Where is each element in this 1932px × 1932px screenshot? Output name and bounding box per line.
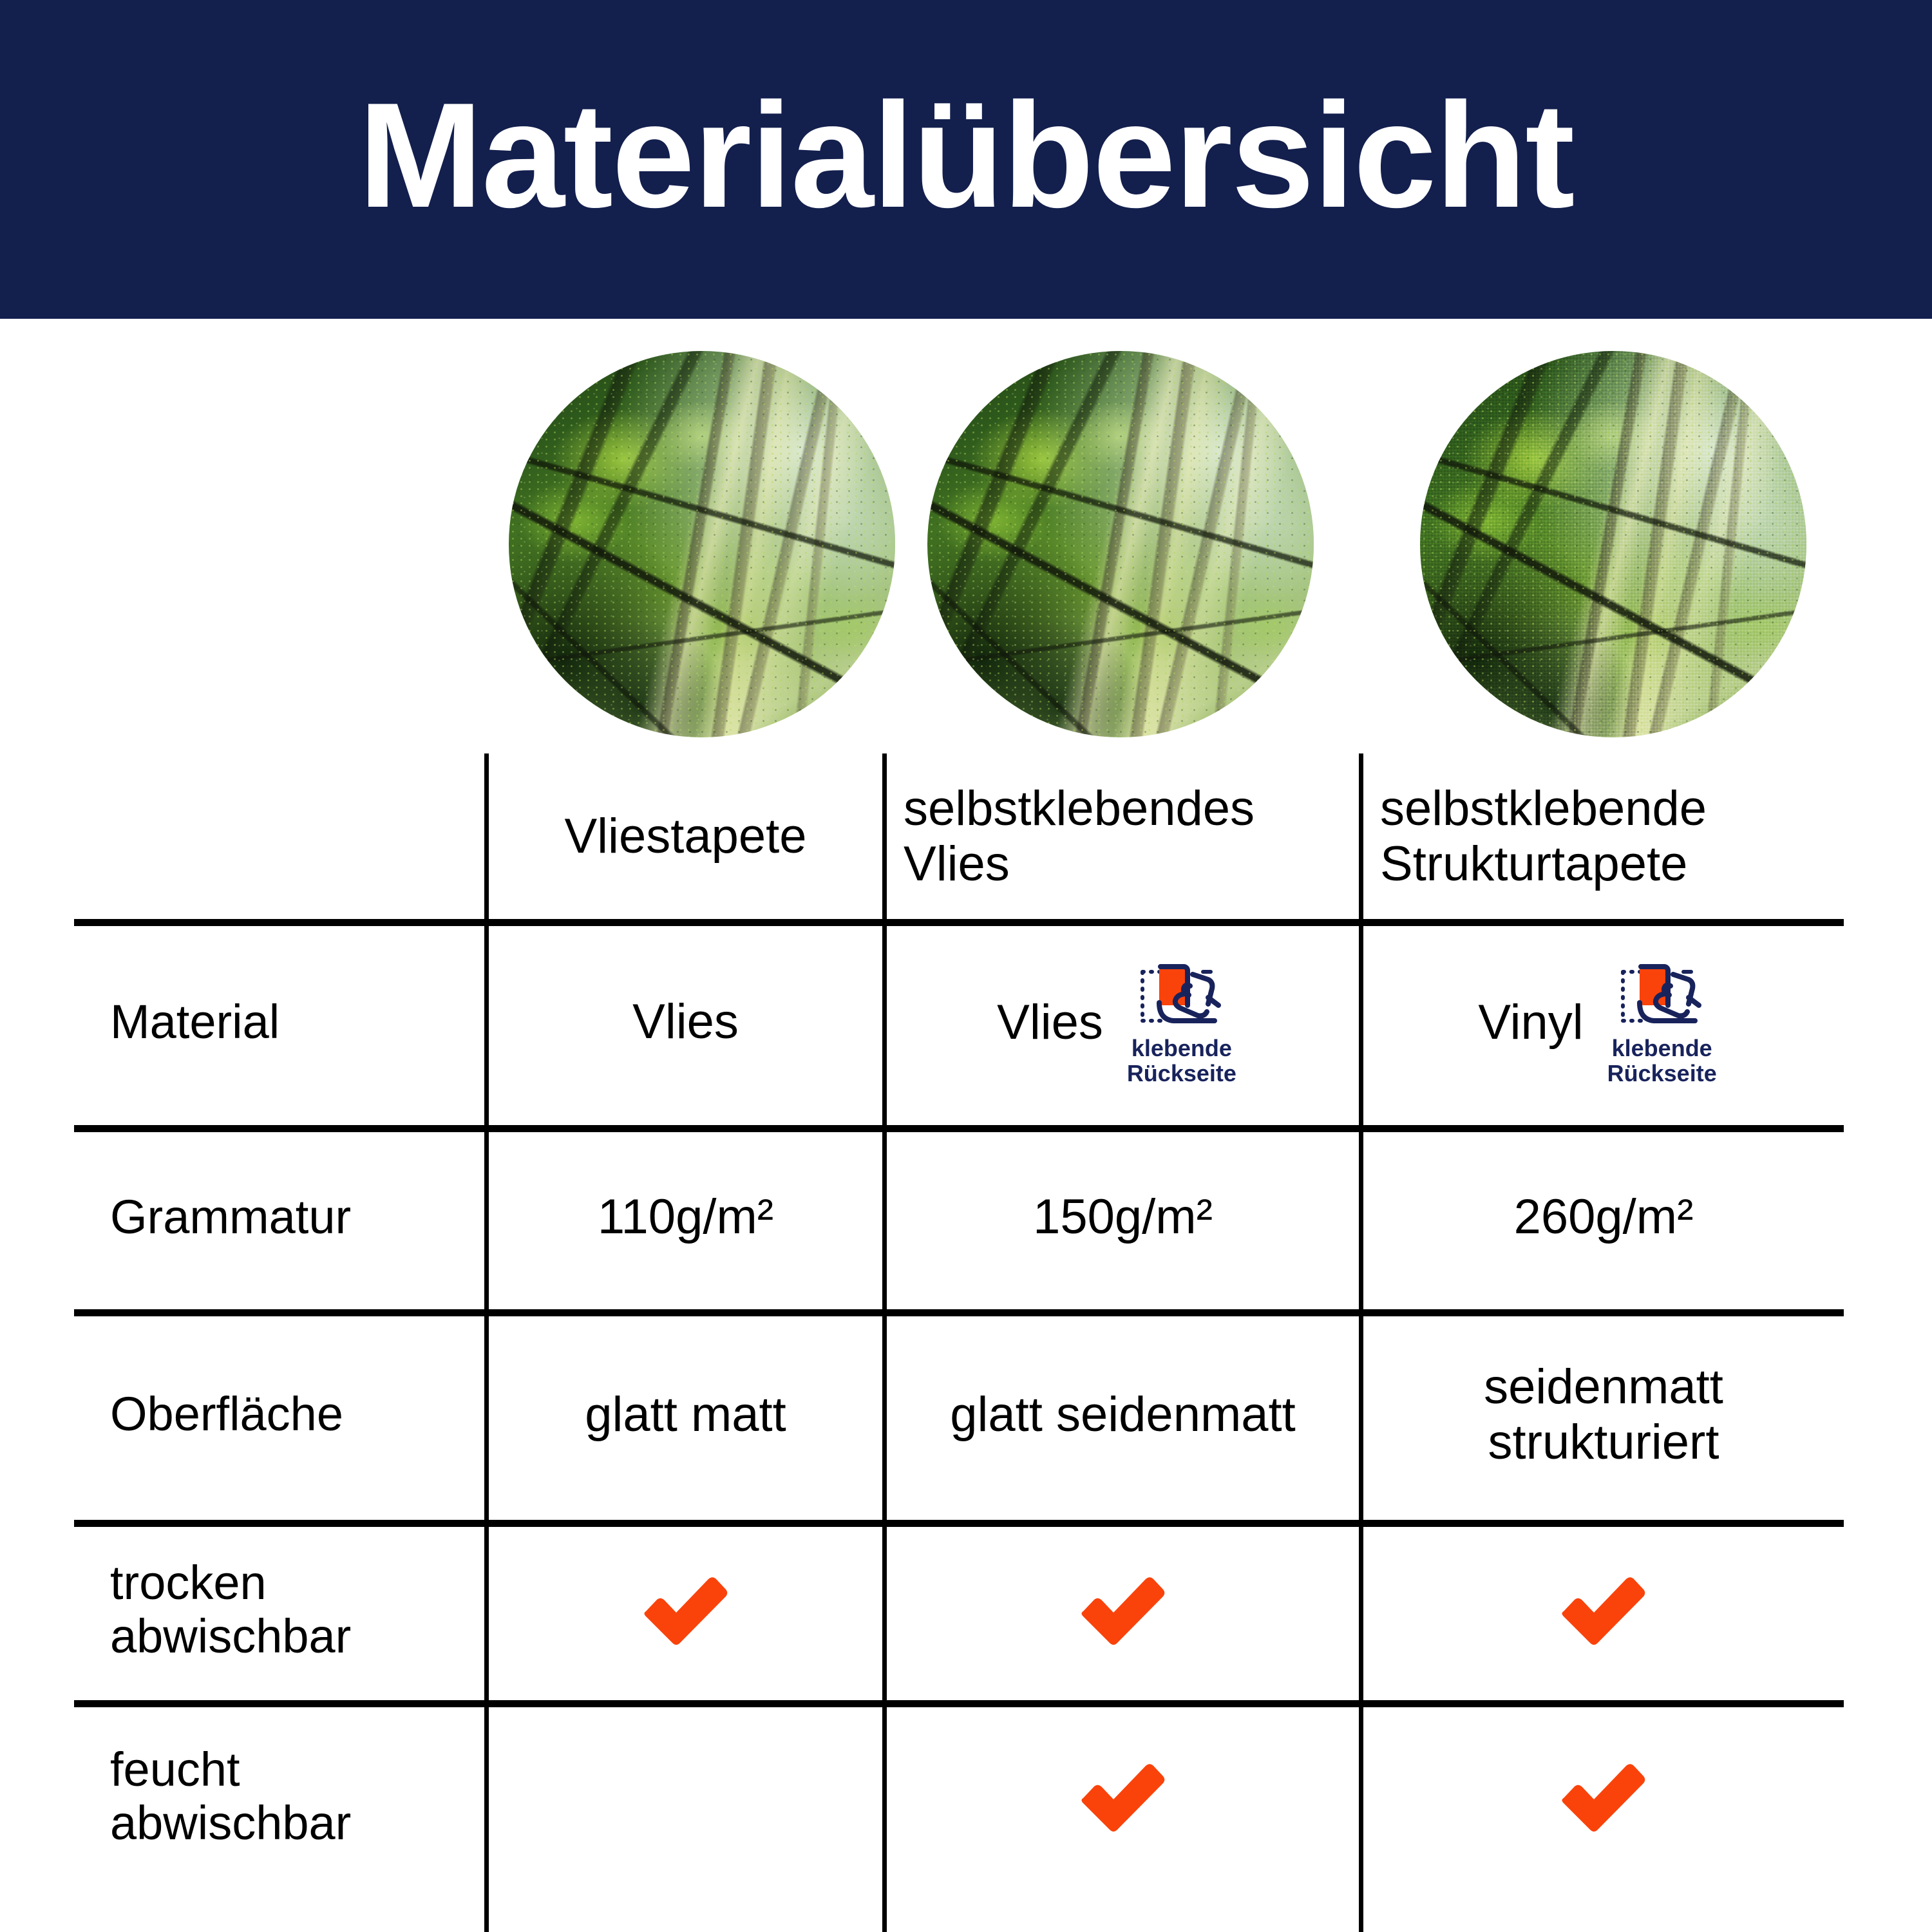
row-label-feucht-abwischbar: feucht abwischbar [74,1700,484,1893]
column-header-vliestapete: Vliestapete [489,753,882,919]
adhesive-backing-icon [1614,958,1710,1034]
column-header-selbstklebende-strukturtapete: selbstklebende Strukturtapete [1363,753,1844,919]
forest-foliage-speckle-1 [509,351,895,737]
cell-feucht-selbstklebendes-vlies [887,1700,1359,1893]
cell-feucht-vliestapete [489,1700,882,1893]
adhesive-badge-caption: klebendeRückseite [1607,1036,1717,1086]
cell-feucht-selbstklebende-strukturtapete [1363,1700,1844,1893]
row-label-material: Material [74,919,484,1125]
row-label-trocken-abwischbar: trocken abwischbar [74,1520,484,1700]
cell-grammatur-selbstklebendes-vlies: 150g/m² [887,1125,1359,1309]
row-label-oberflaeche: Oberfläche [74,1309,484,1520]
adhesive-backing-icon [1133,958,1230,1034]
adhesive-badge-caption: klebendeRückseite [1127,1036,1236,1086]
cell-oberflaeche-selbstklebende-strukturtapete: seidenmatt strukturiert [1363,1309,1844,1520]
cell-material-value: Vinyl [1478,994,1583,1050]
checkmark-icon [1075,1758,1171,1835]
adhesive-backing-badge-1: klebendeRückseite [1115,958,1249,1086]
row-label-grammatur: Grammatur [74,1125,484,1309]
swatch-selbstklebendes-vlies[interactable] [927,351,1314,737]
cell-oberflaeche-selbstklebendes-vlies: glatt seidenmatt [887,1309,1359,1520]
adhesive-backing-badge-2: klebendeRückseite [1595,958,1729,1086]
checkmark-icon [638,1571,734,1649]
checkmark-icon [1555,1758,1652,1835]
cell-grammatur-vliestapete: 110g/m² [489,1125,882,1309]
forest-foliage-speckle-2 [927,351,1314,737]
column-divider-3 [1359,753,1363,1932]
cell-oberflaeche-vliestapete: glatt matt [489,1309,882,1520]
swatch-vliestapete[interactable] [509,351,895,737]
cell-trocken-vliestapete [489,1520,882,1700]
checkmark-icon [1075,1571,1171,1649]
column-divider-1 [484,753,489,1932]
cell-trocken-selbstklebende-strukturtapete [1363,1520,1844,1700]
page-title: Materialübersicht [358,81,1573,231]
column-header-selbstklebendes-vlies: selbstklebendes Vlies [887,753,1359,919]
column-divider-2 [882,753,887,1932]
page-header-banner: Materialübersicht [0,0,1932,319]
material-swatch-row [0,351,1932,750]
cell-material-selbstklebendes-vlies: Vlies klebendeRückseite [887,919,1359,1125]
swatch-selbstklebende-strukturtapete[interactable] [1420,351,1806,737]
cell-material-selbstklebende-strukturtapete: Vinyl klebendeRückseite [1363,919,1844,1125]
cell-material-vliestapete: Vlies [489,919,882,1125]
cell-material-value: Vlies [997,994,1103,1050]
material-comparison-table: Vliestapete selbstklebendes Vlies selbst… [74,753,1844,1932]
checkmark-icon [1555,1571,1652,1649]
structure-texture-overlay [1420,351,1806,737]
cell-grammatur-selbstklebende-strukturtapete: 260g/m² [1363,1125,1844,1309]
cell-trocken-selbstklebendes-vlies [887,1520,1359,1700]
